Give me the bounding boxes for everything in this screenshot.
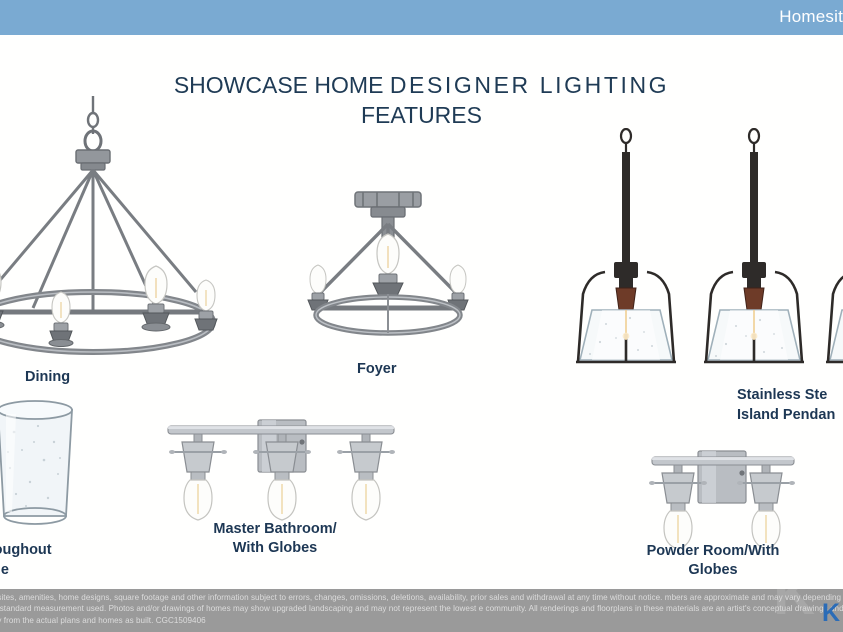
cone-pendant-icon (822, 128, 843, 373)
brand-logo: K (822, 599, 839, 628)
cone-pendant-icon (700, 128, 808, 373)
page-title-line1b: DESIGNER LIGHTING (390, 72, 669, 98)
caption-throughout-home: roughout me (0, 540, 52, 580)
caption-master-bathroom: Master Bathroom/ With Globes (200, 520, 350, 558)
caption-dining: Dining (25, 368, 70, 387)
three-light-vanity-icon (150, 412, 410, 522)
header-bar: Homesit (0, 0, 843, 35)
footer-bar: K mesites, amenities, home designs, squa… (0, 589, 843, 632)
cone-pendant-icon (572, 128, 680, 373)
caption-foyer: Foyer (357, 360, 397, 379)
slide-canvas: Homesit SHOWCASE HOME DESIGNER LIGHTING … (0, 0, 843, 632)
page-title-line2: FEATURES (361, 102, 482, 128)
footer-disclaimer: mesites, amenities, home designs, square… (0, 592, 843, 626)
semi-flush-ring-fixture-icon (283, 182, 493, 352)
ring-chandelier-icon (0, 96, 258, 366)
two-light-vanity-icon (630, 443, 815, 548)
header-title: Homesit (779, 7, 843, 27)
cylinder-shade-icon (0, 398, 90, 538)
caption-island-pendants: Stainless Ste Island Pendan (737, 385, 835, 425)
caption-powder-room: Powder Room/With Globes (634, 542, 792, 580)
page-title-line1a: SHOWCASE HOME (174, 72, 390, 98)
